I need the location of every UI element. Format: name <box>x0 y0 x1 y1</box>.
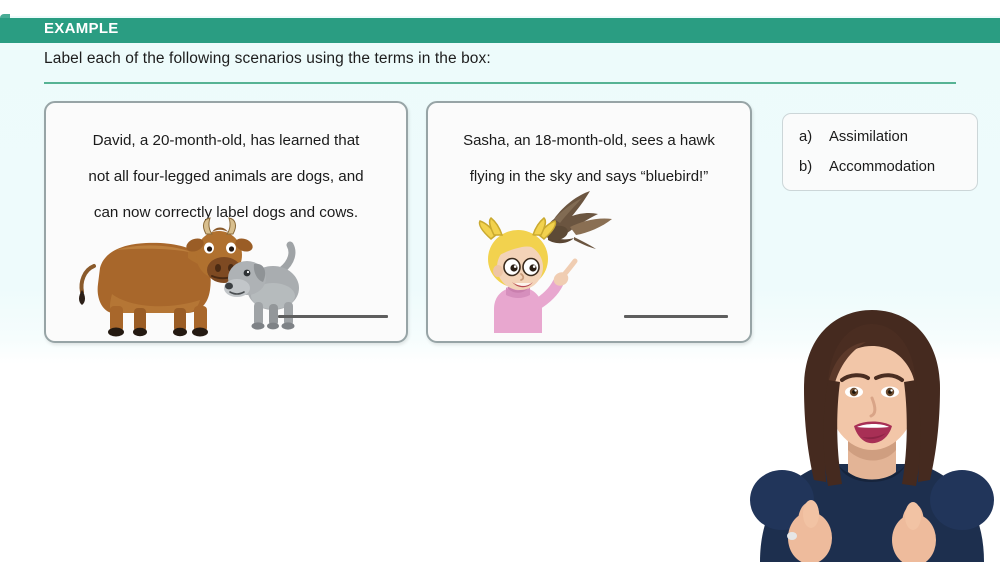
option-b-label: Accommodation <box>829 159 935 175</box>
instruction-divider <box>44 82 956 84</box>
scenario-card-1-answer-line[interactable] <box>278 315 388 318</box>
terms-options-box: a) Assimilation b) Accommodation <box>782 113 978 191</box>
example-banner-label: EXAMPLE <box>44 20 119 37</box>
hawk-figure <box>540 191 612 249</box>
slide-root: EXAMPLE Label each of the following scen… <box>0 0 1000 562</box>
scenario-1-line-1: David, a 20-month-old, has learned that <box>93 132 360 149</box>
cow-and-dog-illustration <box>60 212 310 337</box>
option-a-label: Assimilation <box>829 129 908 145</box>
banner-notch <box>0 14 10 22</box>
scenario-2-line-1: Sasha, an 18-month-old, sees a hawk <box>463 132 715 149</box>
option-b-key: b) <box>799 159 829 175</box>
scenario-card-1[interactable]: David, a 20-month-old, has learned that … <box>44 101 408 343</box>
option-item-a[interactable]: a) Assimilation <box>799 129 908 145</box>
option-a-key: a) <box>799 129 829 145</box>
option-item-b[interactable]: b) Accommodation <box>799 159 935 175</box>
girl-pointing-at-hawk-illustration <box>458 183 638 333</box>
scenario-1-line-2: not all four-legged animals are dogs, an… <box>88 168 363 185</box>
example-banner: EXAMPLE <box>0 18 1000 43</box>
instruction-text: Label each of the following scenarios us… <box>44 50 491 68</box>
scenario-card-2[interactable]: Sasha, an 18-month-old, sees a hawk flyi… <box>426 101 752 343</box>
scenario-card-2-answer-line[interactable] <box>624 315 728 318</box>
instructor-video-overlay <box>742 300 1000 562</box>
